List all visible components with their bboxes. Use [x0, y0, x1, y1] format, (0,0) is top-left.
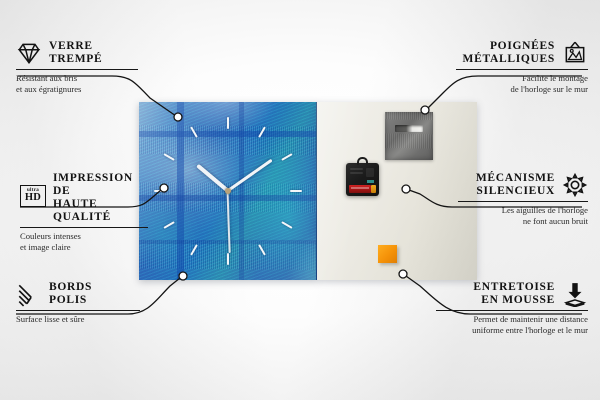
silent-clock-mechanism	[346, 163, 379, 196]
clock-second-hand	[227, 191, 231, 253]
mechanism-vent-2	[350, 172, 363, 174]
clock-tick-mark	[163, 221, 174, 229]
clock-tick-mark	[227, 117, 229, 129]
hd-badge-large-text: HD	[25, 193, 41, 204]
feature-subtitle: Facilite le montage de l'horloge sur le …	[456, 73, 588, 94]
feature-rule	[456, 69, 588, 70]
feature-subtitle: Résistant aux bris et aux égratignures	[16, 73, 138, 94]
infographic-stage: VERRE TREMPÉ Résistant aux bris et aux é…	[0, 0, 600, 400]
clock-tick-mark	[190, 244, 198, 255]
clock-tick-mark	[281, 153, 292, 161]
product-photo	[139, 102, 477, 280]
clock-tick-mark	[258, 126, 266, 137]
feature-head: ultra HD IMPRESSION DE HAUTE QUALITÉ	[20, 172, 148, 224]
feature-callout-high-quality-print: ultra HD IMPRESSION DE HAUTE QUALITÉ Cou…	[20, 172, 148, 252]
clock-tick-mark	[258, 244, 266, 255]
battery	[349, 185, 371, 193]
clock-tick-mark	[190, 126, 198, 137]
clock-dial	[139, 102, 316, 280]
feature-title: POIGNÉES MÉTALLIQUES	[463, 40, 555, 66]
arrow-down-layers-icon	[562, 281, 588, 307]
clock-minute-hand	[227, 159, 273, 192]
battery-terminal	[371, 185, 376, 193]
clock-tick-mark	[163, 153, 174, 161]
feature-rule	[16, 310, 140, 311]
clock-tick-mark	[154, 190, 166, 192]
feature-head: POIGNÉES MÉTALLIQUES	[456, 40, 588, 66]
clock-hour-hand	[196, 164, 229, 193]
feature-callout-polished-edges: BORDS POLIS Surface lisse et sûre	[16, 281, 140, 325]
artwork-band-horizontal-3	[139, 240, 317, 244]
feature-head: BORDS POLIS	[16, 281, 140, 307]
gear-icon	[562, 172, 588, 198]
feature-subtitle: Couleurs intenses et image claire	[20, 231, 148, 252]
brushed-metal-grain	[385, 112, 433, 160]
artwork-band-vertical-2	[239, 102, 244, 280]
clock-center-cap	[225, 188, 231, 194]
feature-head: ENTRETOISE EN MOUSSE	[436, 281, 588, 307]
clock-tick-mark	[227, 253, 229, 265]
moire-texture-layer-c	[139, 102, 317, 280]
feature-head: MÉCANISME SILENCIEUX	[458, 172, 588, 198]
feature-title: ENTRETOISE EN MOUSSE	[473, 281, 555, 307]
clock-back-plate-panel	[317, 102, 477, 280]
feature-rule	[436, 310, 588, 311]
feature-callout-tempered-glass: VERRE TREMPÉ Résistant aux bris et aux é…	[16, 40, 138, 94]
feature-callout-foam-spacer: ENTRETOISE EN MOUSSE Permet de maintenir…	[436, 281, 588, 335]
feature-callout-silent-mechanism: MÉCANISME SILENCIEUX Les aiguilles de l'…	[458, 172, 588, 226]
mechanism-vent-3	[366, 168, 374, 177]
feature-title: MÉCANISME SILENCIEUX	[476, 172, 555, 198]
feature-title: IMPRESSION DE HAUTE QUALITÉ	[53, 172, 148, 224]
feature-rule	[20, 227, 148, 228]
moire-texture-layer-b	[139, 102, 317, 280]
feature-rule	[458, 201, 588, 202]
feature-subtitle: Permet de maintenir une distance uniform…	[436, 314, 588, 335]
clock-tick-mark	[281, 221, 292, 229]
artwork-band-horizontal-2	[139, 195, 317, 201]
feature-rule	[16, 69, 138, 70]
foam-spacer	[378, 245, 397, 263]
feature-head: VERRE TREMPÉ	[16, 40, 138, 66]
mechanism-hanger-loop	[357, 157, 368, 165]
picture-hanger-icon	[562, 40, 588, 66]
diamond-icon	[16, 40, 42, 66]
feature-title: BORDS POLIS	[49, 281, 92, 307]
clock-glass-face-panel	[139, 102, 317, 280]
polished-edges-icon	[16, 281, 42, 307]
ultra-hd-badge-icon: ultra HD	[20, 185, 46, 211]
artwork-band-horizontal-1	[139, 131, 317, 137]
handle-slot	[395, 125, 423, 132]
feature-subtitle: Les aiguilles de l'horloge ne font aucun…	[458, 205, 588, 226]
feature-title: VERRE TREMPÉ	[49, 40, 102, 66]
feature-subtitle: Surface lisse et sûre	[16, 314, 140, 325]
metal-hanging-handle	[385, 112, 433, 160]
mechanism-vent-1	[350, 168, 363, 170]
artwork-band-vertical-1	[177, 102, 184, 280]
clock-tick-mark	[290, 190, 302, 192]
mechanism-label-strip	[367, 180, 374, 183]
moire-texture-layer-a	[139, 102, 317, 280]
feature-callout-metal-handles: POIGNÉES MÉTALLIQUES Facilite le montage…	[456, 40, 588, 94]
glass-sheen	[139, 102, 316, 280]
